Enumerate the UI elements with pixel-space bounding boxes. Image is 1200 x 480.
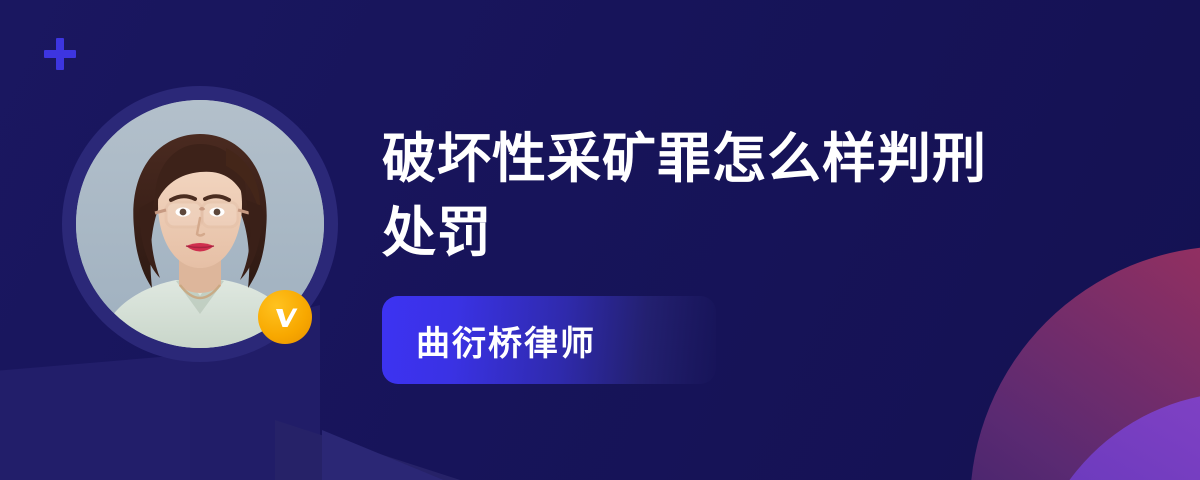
decor-arc-inner — [1028, 392, 1200, 480]
check-v-icon — [269, 301, 301, 333]
decor-wedge-a — [0, 352, 220, 480]
presenter-name-label: 曲衍桥律师 — [416, 316, 596, 365]
page-title: 破坏性采矿罪怎么样判刑 处罚 — [382, 122, 1102, 270]
decor-wedge-e — [322, 430, 492, 480]
presenter-name-pill[interactable]: 曲衍桥律师 — [382, 296, 716, 384]
avatar — [62, 86, 338, 362]
legal-qa-banner: 破坏性采矿罪怎么样判刑 处罚 曲衍桥律师 — [0, 0, 1200, 480]
plus-icon — [44, 38, 76, 70]
decor-wedge-d — [275, 420, 475, 480]
decor-arc-outer — [970, 246, 1200, 480]
verified-badge — [258, 290, 312, 344]
